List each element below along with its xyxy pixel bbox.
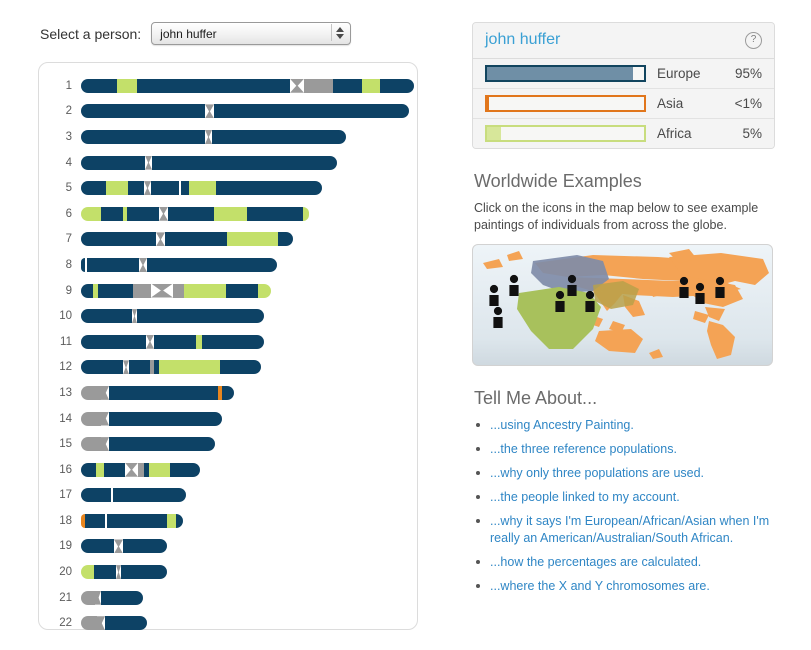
chromosome-segment-nav (380, 79, 414, 93)
chromosome-track (81, 463, 200, 477)
person-selector-label: Select a person: (40, 26, 141, 42)
chromosome-segment-bowtie (159, 207, 168, 221)
chromosome-segment-bowtie (125, 463, 138, 477)
chromosome-segment-gry (81, 616, 97, 630)
chromosome-segment-nav (81, 360, 123, 374)
chromosome-segment-nav (202, 335, 264, 349)
tell-me-about-link[interactable]: ...why only three populations are used. (474, 465, 775, 482)
chromosome-segment-nav (127, 207, 159, 221)
chromosome-segment-nav (81, 463, 96, 477)
chromosome-row[interactable]: 6 (39, 201, 417, 227)
chromosome-track (81, 488, 186, 502)
chromosome-row[interactable]: 18 (39, 508, 417, 534)
chromosome-segment-grn (96, 463, 104, 477)
chromosome-segment-nav (222, 386, 234, 400)
chromosome-segment-nav (212, 130, 346, 144)
chromosome-row[interactable]: 1 (39, 73, 417, 99)
chromosome-segment-nav (81, 309, 132, 323)
chromosome-segment-bowtie (156, 232, 165, 246)
chromosome-label: 7 (39, 233, 81, 245)
chromosome-segment-grn (227, 232, 278, 246)
chromosome-segment-nav (220, 360, 261, 374)
chromosome-segment-nav (107, 514, 167, 528)
chromosome-segment-bowtie (114, 539, 123, 553)
chromosome-label: 6 (39, 208, 81, 220)
chromosome-label: 17 (39, 489, 81, 501)
chromosome-segment-bowtie (139, 258, 147, 272)
chromosome-segment-gry (81, 386, 101, 400)
stepper-down-icon (336, 34, 344, 39)
chromosome-row[interactable]: 10 (39, 303, 417, 329)
chromosome-segment-nav (109, 412, 222, 426)
tell-me-about-link[interactable]: ...where the X and Y chromosomes are. (474, 578, 775, 595)
chromosome-segment-bowtie (290, 79, 304, 93)
chromosome-segment-nav (81, 335, 146, 349)
chromosome-segment-nav (152, 156, 337, 170)
population-name: Africa (657, 126, 731, 141)
chromosome-label: 5 (39, 182, 81, 194)
chromosome-segment-nav (101, 591, 143, 605)
right-column: john huffer ? Europe95%Asia<1%Africa5% W… (472, 22, 775, 602)
chromosome-segment-nav (101, 207, 123, 221)
chromosome-row[interactable]: 4 (39, 150, 417, 176)
chromosome-label: 8 (39, 259, 81, 271)
ancestry-row-europe: Europe95% (473, 59, 774, 89)
chromosome-segment-notch-r (101, 386, 109, 400)
chromosome-row[interactable]: 16 (39, 457, 417, 483)
chromosome-segment-nav (129, 360, 150, 374)
chromosome-label: 2 (39, 105, 81, 117)
chromosome-row[interactable]: 8 (39, 252, 417, 278)
chromosome-row[interactable]: 7 (39, 227, 417, 253)
chromosome-label: 4 (39, 157, 81, 169)
chromosome-row[interactable]: 13 (39, 380, 417, 406)
ancestry-bar-fill (487, 67, 633, 80)
chromosome-segment-grn (159, 360, 220, 374)
chromosome-segment-nav (128, 181, 144, 195)
chromosome-segment-grn (189, 181, 216, 195)
chromosome-segment-nav (214, 104, 409, 118)
ancestry-summary-card: john huffer ? Europe95%Asia<1%Africa5% (472, 22, 775, 149)
worldwide-examples-title: Worldwide Examples (474, 171, 775, 192)
chromosome-row[interactable]: 12 (39, 355, 417, 381)
chromosome-segment-grn (258, 284, 271, 298)
world-map[interactable] (472, 244, 773, 366)
stepper-up-icon (336, 27, 344, 32)
chromosome-segment-grn (81, 207, 101, 221)
chromosome-segment-nav (137, 309, 264, 323)
chromosome-track (81, 130, 346, 144)
tell-me-about-link[interactable]: ...the three reference populations. (474, 441, 775, 458)
person-select[interactable]: john huffer (151, 22, 351, 45)
chromosome-segment-nav (121, 565, 167, 579)
chromosome-segment-nav (104, 463, 125, 477)
ancestry-bar-asia (485, 95, 646, 112)
chromosome-segment-bowtie (205, 104, 214, 118)
chromosome-segment-nav (105, 616, 147, 630)
chromosome-row[interactable]: 3 (39, 124, 417, 150)
stepper-updown-icon[interactable] (331, 24, 347, 41)
chromosome-label: 12 (39, 361, 81, 373)
tell-me-about-list: ...using Ancestry Painting....the three … (472, 417, 775, 595)
chromosome-segment-grn (303, 207, 309, 221)
chromosome-segment-nav (81, 130, 205, 144)
chromosome-row[interactable]: 15 (39, 431, 417, 457)
population-name: Asia (657, 96, 724, 111)
chromosome-segment-grn (214, 207, 247, 221)
chromosome-segment-nav (227, 284, 258, 298)
chromosome-track (81, 386, 234, 400)
chromosome-segment-grn (149, 463, 170, 477)
chromosome-segment-gry (133, 284, 151, 298)
chromosome-segment-bowtie (205, 130, 212, 144)
chromosome-segment-notch-r (101, 437, 109, 451)
chromosome-label: 20 (39, 566, 81, 578)
help-question-icon[interactable]: ? (745, 32, 762, 49)
chromosome-track (81, 207, 309, 221)
ancestry-bar-fill (487, 127, 501, 140)
chromosome-segment-nav (333, 79, 362, 93)
chromosome-segment-grn (106, 181, 128, 195)
chromosome-track (81, 104, 409, 118)
chromosome-segment-gry (173, 284, 184, 298)
chromosome-track (81, 360, 261, 374)
chromosome-track (81, 232, 293, 246)
chromosome-segment-nav (98, 284, 133, 298)
chromosome-track (81, 591, 143, 605)
ancestry-row-asia: Asia<1% (473, 89, 774, 119)
chromosome-label: 15 (39, 438, 81, 450)
chromosome-segment-grn (362, 79, 380, 93)
chromosome-segment-nav (81, 488, 111, 502)
chromosome-segment-nav (109, 437, 215, 451)
chromosome-label: 21 (39, 592, 81, 604)
chromosome-track (81, 309, 264, 323)
ancestry-card-header: john huffer ? (473, 23, 774, 59)
chromosome-segment-nav (165, 232, 227, 246)
chromosome-track (81, 539, 167, 553)
chromosome-label: 3 (39, 131, 81, 143)
chromosome-label: 1 (39, 80, 81, 92)
ancestry-row-africa: Africa5% (473, 119, 774, 148)
chromosome-segment-nav (176, 514, 183, 528)
chromosome-track (81, 181, 322, 195)
worldwide-examples-description: Click on the icons in the map below to s… (474, 200, 775, 234)
chromosome-row[interactable]: 19 (39, 534, 417, 560)
chromosome-segment-nav (151, 181, 179, 195)
chromosome-track (81, 156, 337, 170)
chromosome-label: 10 (39, 310, 81, 322)
chromosome-segment-nav (147, 258, 277, 272)
chromosome-segment-nav (87, 258, 139, 272)
chromosome-label: 18 (39, 515, 81, 527)
chromosome-track (81, 616, 147, 630)
chromosome-row[interactable]: 14 (39, 406, 417, 432)
chromosome-row[interactable]: 21 (39, 585, 417, 611)
chromosome-row[interactable]: 11 (39, 329, 417, 355)
chromosome-track (81, 437, 215, 451)
chromosome-segment-nav (81, 79, 117, 93)
chromosome-label: 22 (39, 617, 81, 629)
chromosome-row[interactable]: 20 (39, 559, 417, 585)
chromosome-segment-nav (81, 232, 156, 246)
chromosome-track (81, 412, 222, 426)
chromosome-track (81, 258, 277, 272)
chromosome-segment-nav (123, 539, 167, 553)
chromosome-label: 11 (39, 336, 81, 348)
ancestry-painting-page: Select a person: john huffer 12345678910… (0, 0, 811, 650)
chromosome-segment-nav (137, 79, 290, 93)
tell-me-about-link[interactable]: ...the people linked to my account. (474, 489, 775, 506)
chromosome-track (81, 284, 271, 298)
chromosome-segment-grn (184, 284, 226, 298)
chromosome-track (81, 335, 264, 349)
chromosome-label: 9 (39, 285, 81, 297)
chromosome-segment-nav (81, 156, 145, 170)
ancestry-bar-fill (487, 97, 489, 110)
chromosome-rows: 12345678910111213141516171819202122 (39, 73, 417, 636)
chromosome-segment-nav (81, 539, 114, 553)
chromosome-segment-nav (170, 463, 200, 477)
world-map-graphic (473, 245, 772, 365)
ancestry-bar-africa (485, 125, 646, 142)
chromosome-segment-nav (113, 488, 186, 502)
chromosome-segment-nav (81, 284, 93, 298)
chromosome-segment-gry (81, 437, 101, 451)
tell-me-about-link[interactable]: ...why it says I'm European/African/Asia… (474, 513, 775, 547)
chromosome-segment-grn (167, 514, 176, 528)
chromosome-segment-nav (181, 181, 189, 195)
chromosome-segment-bowtie (145, 156, 152, 170)
chromosome-segment-bowtie (144, 181, 151, 195)
chromosome-segment-nav (85, 514, 105, 528)
population-percent: 5% (742, 126, 762, 141)
chromosome-segment-bowtie (151, 284, 173, 298)
ancestry-bar-europe (485, 65, 646, 82)
chromosome-track (81, 565, 167, 579)
tell-me-about-link[interactable]: ...how the percentages are calculated. (474, 554, 775, 571)
chromosome-segment-nav (109, 386, 218, 400)
chromosome-segment-bowtie (146, 335, 154, 349)
chromosome-segment-grn (117, 79, 137, 93)
chromosome-segment-nav (168, 207, 214, 221)
chromosome-segment-gry (304, 79, 333, 93)
chromosome-segment-notch-r (97, 616, 105, 630)
chromosome-label: 13 (39, 387, 81, 399)
chromosome-segment-nav (278, 232, 293, 246)
chromosome-segment-nav (81, 181, 106, 195)
chromosome-segment-nav (94, 565, 116, 579)
population-name: Europe (657, 66, 724, 81)
person-selector-bar: Select a person: john huffer (40, 22, 351, 45)
chromosome-painting-panel: 12345678910111213141516171819202122 (38, 62, 418, 630)
person-select-value: john huffer (152, 27, 217, 41)
chromosome-row[interactable]: 9 (39, 278, 417, 304)
chromosome-label: 16 (39, 464, 81, 476)
chromosome-row[interactable]: 5 (39, 175, 417, 201)
chromosome-label: 19 (39, 540, 81, 552)
chromosome-label: 14 (39, 413, 81, 425)
chromosome-segment-nav (216, 181, 322, 195)
tell-me-about-link[interactable]: ...using Ancestry Painting. (474, 417, 775, 434)
chromosome-segment-nav (247, 207, 303, 221)
chromosome-segment-nav (154, 335, 196, 349)
chromosome-segment-gry (81, 591, 95, 605)
chromosome-row[interactable]: 17 (39, 483, 417, 509)
chromosome-segment-gry (81, 412, 101, 426)
chromosome-row[interactable]: 22 (39, 610, 417, 636)
chromosome-segment-nav (81, 104, 205, 118)
population-percent: <1% (735, 96, 762, 111)
tell-me-about-title: Tell Me About... (474, 388, 775, 409)
chromosome-track (81, 514, 183, 528)
chromosome-segment-notch-r (101, 412, 109, 426)
population-percent: 95% (735, 66, 762, 81)
chromosome-track (81, 79, 414, 93)
chromosome-segment-grn (81, 565, 94, 579)
ancestry-rows: Europe95%Asia<1%Africa5% (473, 59, 774, 148)
chromosome-row[interactable]: 2 (39, 99, 417, 125)
ancestry-person-name: john huffer (485, 31, 560, 49)
